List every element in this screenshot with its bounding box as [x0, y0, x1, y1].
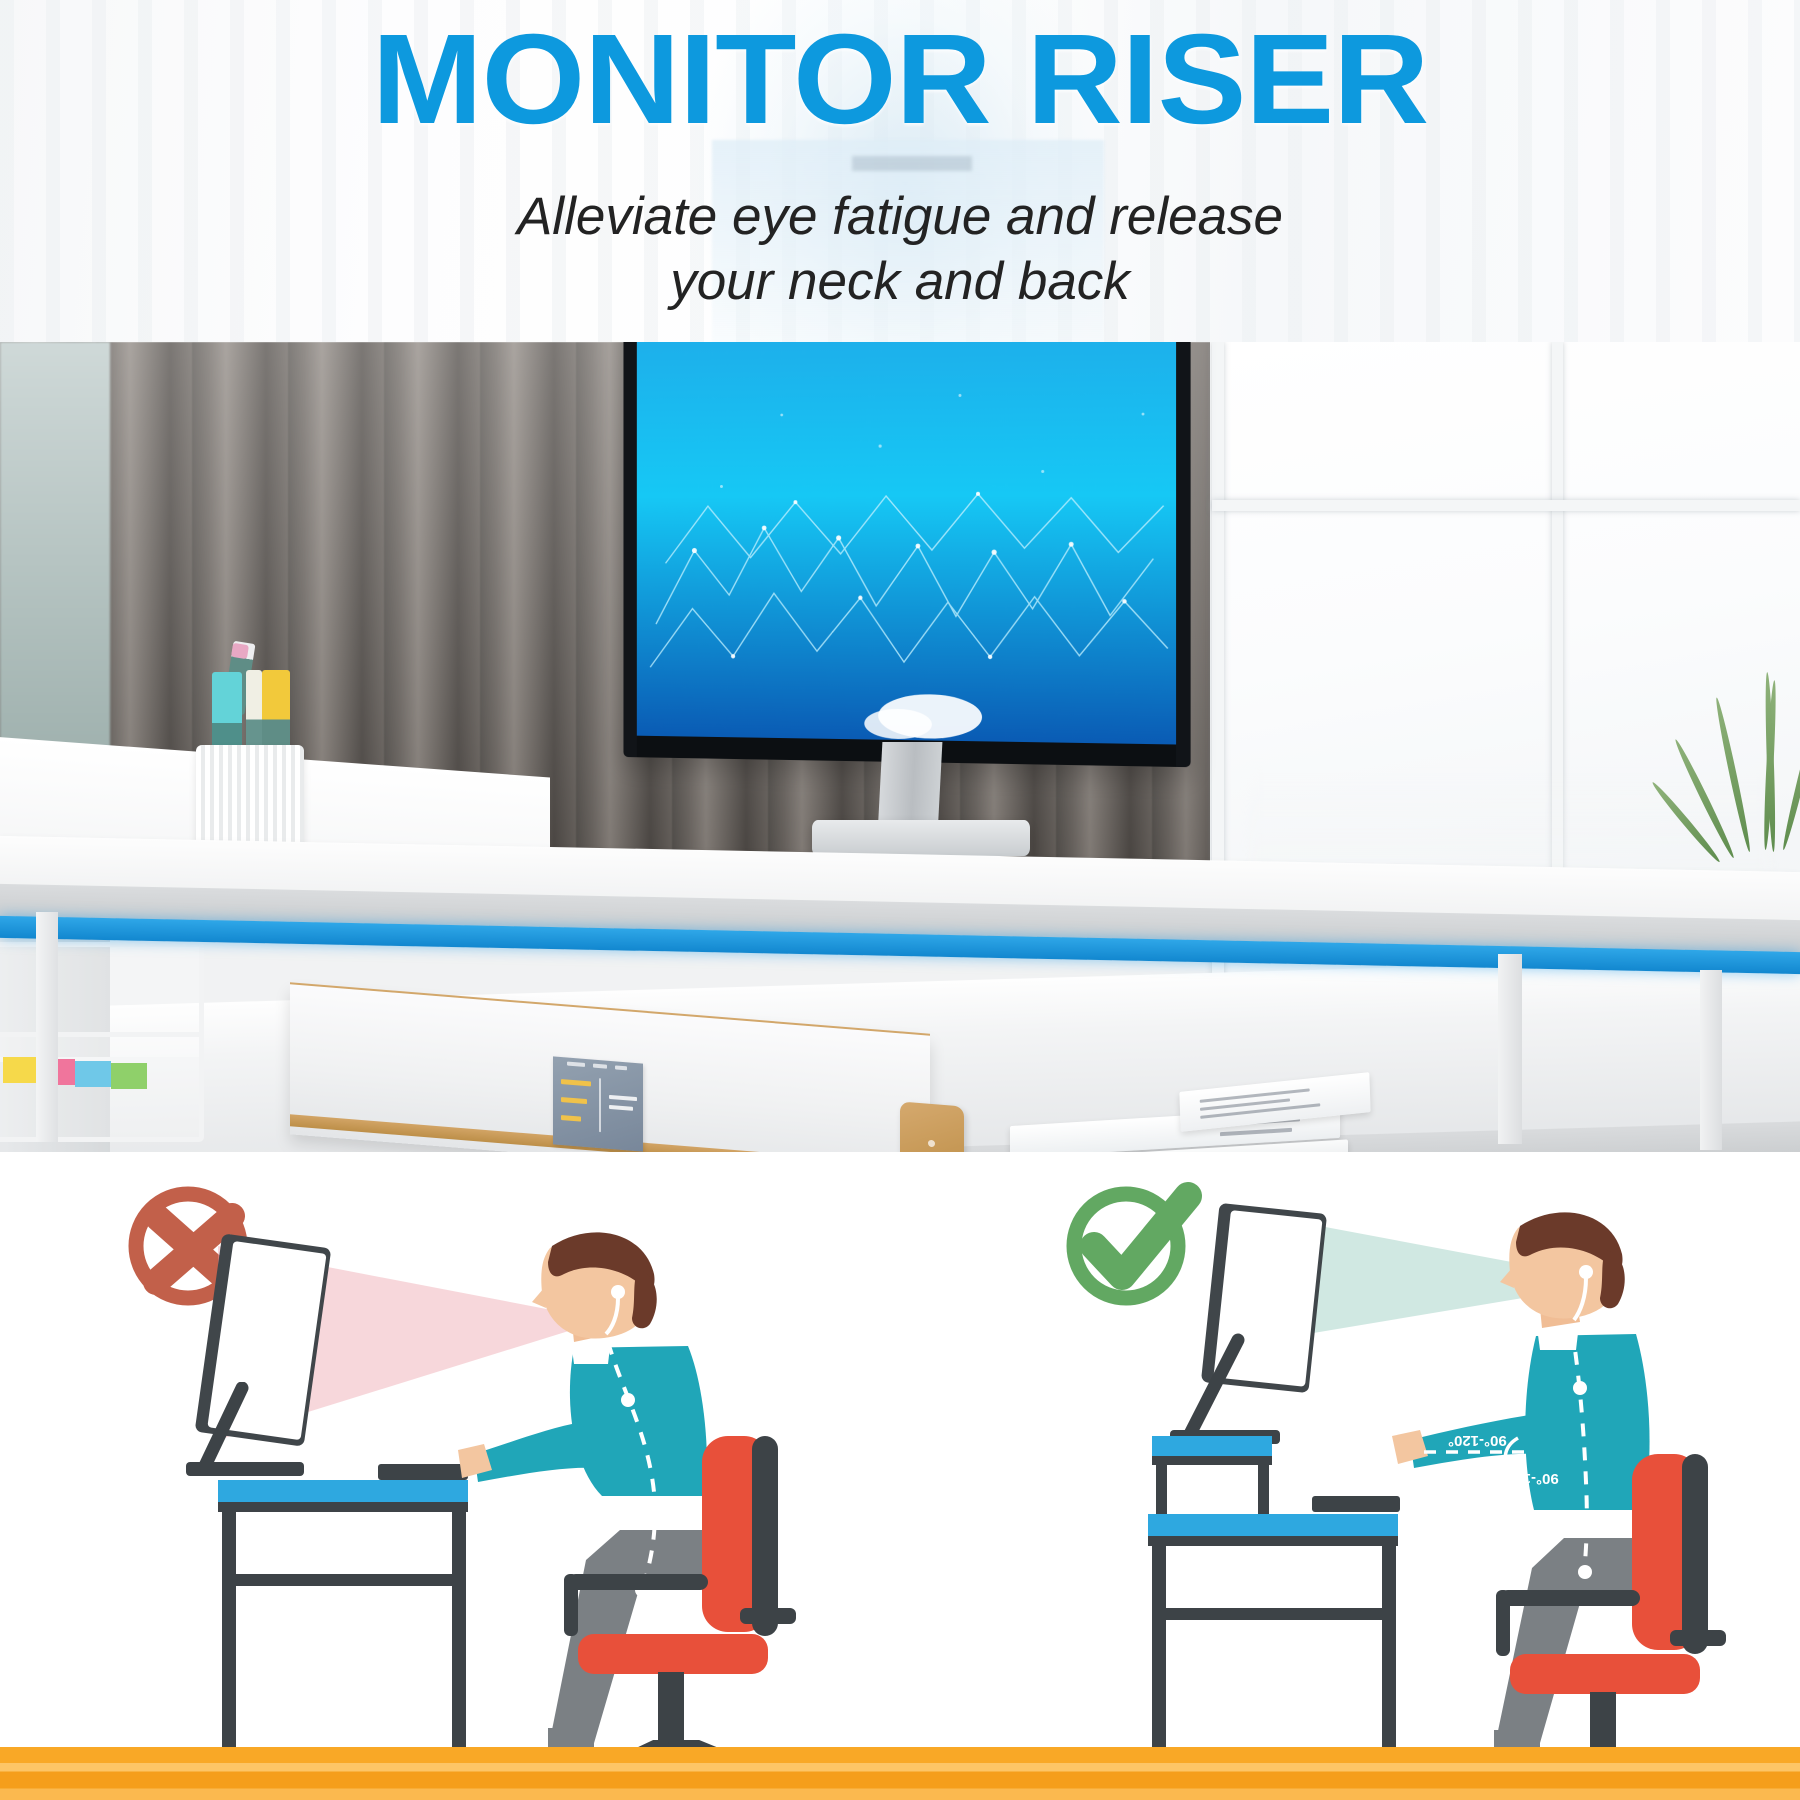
angle-label-elbow: 90°-120°	[1448, 1432, 1507, 1449]
header-banner: MONITOR RISER Alleviate eye fatigue and …	[0, 0, 1800, 342]
chair-armrest	[1500, 1590, 1640, 1606]
angle-label-hip: 90°-120°	[1500, 1470, 1559, 1487]
product-infographic: MONITOR RISER Alleviate eye fatigue and …	[0, 0, 1800, 1800]
monitor	[623, 342, 1190, 767]
monitor-base	[812, 820, 1030, 856]
page-title: MONITOR RISER	[0, 16, 1800, 144]
bad-posture-panel	[0, 1152, 900, 1800]
chair-armrest-post	[564, 1574, 578, 1636]
monitor-wallpaper	[637, 342, 1176, 745]
sticky-note-yellow	[3, 1057, 39, 1083]
riser-leg-far-right	[1700, 970, 1722, 1150]
floor-band	[0, 1747, 1800, 1800]
riser-shelf-edge	[1152, 1456, 1272, 1465]
marker-pink-cap	[231, 643, 249, 659]
file-tray-lower	[0, 1032, 204, 1142]
bad-desk-top	[218, 1480, 468, 1502]
box-end-cap	[900, 1101, 964, 1152]
bad-desk-crossbar	[222, 1574, 466, 1586]
good-desk-top-edge	[1148, 1536, 1398, 1546]
good-desk-crossbar	[1152, 1608, 1396, 1620]
chair-back-connector	[740, 1608, 796, 1624]
chair-back-frame	[1682, 1454, 1708, 1654]
wall-panel	[0, 342, 110, 772]
check-circle-icon	[1060, 1170, 1210, 1320]
bad-monitor-stand	[180, 1382, 310, 1492]
wallpaper-network-graphic	[637, 342, 1176, 745]
posture-comparison: 90°-120° 90°-120° 90°-120°	[0, 1152, 1800, 1800]
good-posture-panel: 90°-120° 90°-120° 90°-120°	[900, 1152, 1800, 1800]
riser-leg-right	[1498, 954, 1522, 1144]
chair-armrest	[568, 1574, 708, 1590]
window-frame-left	[1212, 342, 1224, 1082]
sticky-note-blue	[75, 1061, 111, 1087]
window-frame-top	[1212, 500, 1800, 511]
product-photo	[0, 342, 1800, 1152]
box-label	[553, 1056, 643, 1151]
angle-label-knee: 90°-120°	[1416, 1522, 1475, 1539]
page-subtitle: Alleviate eye fatigue and release your n…	[0, 185, 1800, 314]
riser-leg-left	[36, 912, 58, 1142]
chair-seat	[1510, 1654, 1700, 1694]
chair-armrest-post	[1496, 1590, 1510, 1656]
sticky-note-green	[111, 1063, 147, 1089]
bad-desk-top-edge	[218, 1502, 468, 1512]
chair-back-connector	[1670, 1630, 1726, 1646]
good-desk-top	[1148, 1514, 1398, 1536]
header-ghost-label	[852, 156, 972, 171]
chair-back-frame	[752, 1436, 778, 1636]
chair-seat	[578, 1634, 768, 1674]
box-cap-dot	[928, 1140, 935, 1148]
riser-shelf-top	[1152, 1436, 1272, 1456]
